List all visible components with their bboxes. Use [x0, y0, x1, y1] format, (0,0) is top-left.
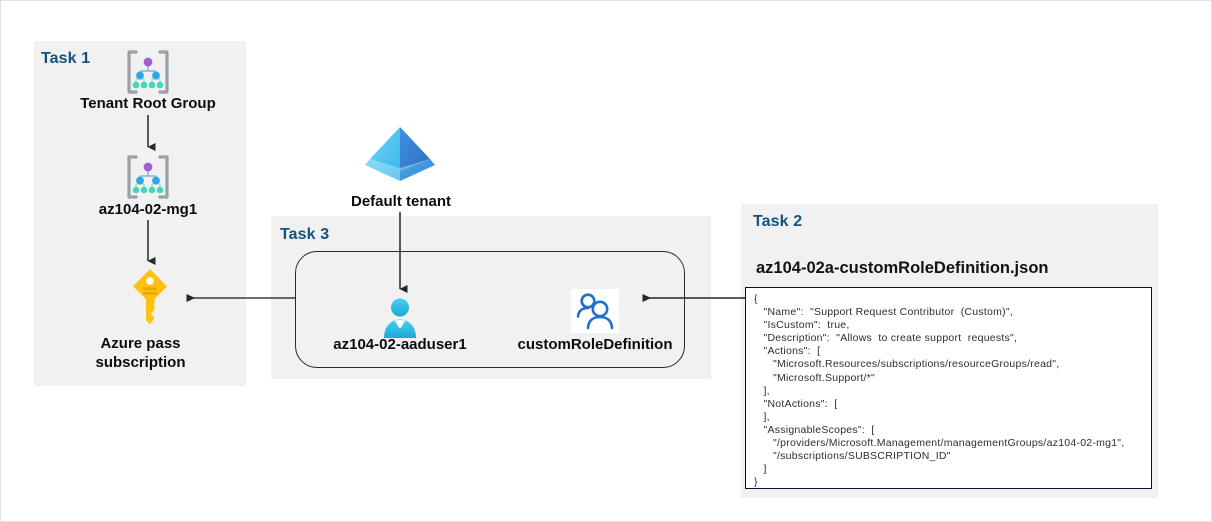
role-definition-users-icon [571, 289, 619, 333]
azure-tenant-pyramid-icon [361, 123, 439, 191]
subscription-label-line1: Azure pass [100, 335, 180, 352]
management-group-icon [122, 153, 174, 201]
task2-label: Task 2 [753, 213, 802, 231]
task3-label: Task 3 [280, 226, 329, 244]
management-group-mg1-label: az104-02-mg1 [48, 200, 248, 219]
default-tenant-label: Default tenant [301, 192, 501, 211]
management-group-icon [122, 48, 174, 96]
subscription-label-line2: subscription [95, 354, 185, 371]
json-file-name: az104-02a-customRoleDefinition.json [756, 259, 1048, 278]
aaduser1-label: az104-02-aaduser1 [300, 335, 500, 354]
diagram-canvas: Task 1 Tenant Root Group [0, 0, 1212, 522]
json-code-box: { "Name": "Support Request Contributor (… [745, 287, 1152, 489]
user-icon [379, 296, 421, 338]
task1-label: Task 1 [41, 50, 90, 68]
custom-role-definition-label: customRoleDefinition [495, 335, 695, 354]
azure-pass-subscription-label: Azure pass subscription [48, 334, 233, 372]
tenant-root-group-label: Tenant Root Group [48, 94, 248, 113]
json-code-text: { "Name": "Support Request Contributor (… [754, 293, 1124, 489]
key-icon [127, 266, 173, 332]
